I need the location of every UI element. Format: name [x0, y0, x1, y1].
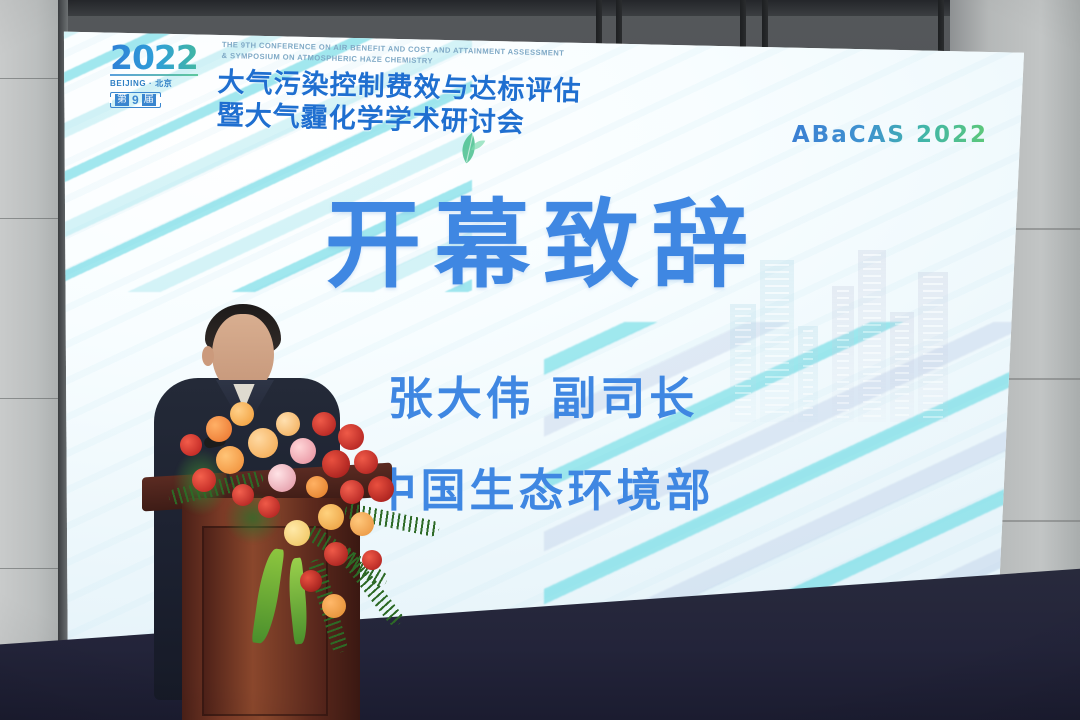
flower-lily — [248, 428, 278, 458]
wall-seam — [0, 568, 66, 569]
logo-divider — [110, 74, 198, 76]
wall-seam — [0, 78, 66, 79]
conference-logo: 2022 BEIJING · 北京 第 9 届 — [110, 42, 214, 108]
wall-seam — [0, 398, 66, 399]
flower-arrangement — [172, 372, 442, 672]
flower-peach — [230, 402, 254, 426]
flower-yellow — [284, 520, 310, 546]
conference-photo: 2022 BEIJING · 北京 第 9 届 THE 9TH CONFEREN… — [0, 0, 1080, 720]
flower-red — [258, 496, 280, 518]
flower-red — [340, 480, 364, 504]
slide-header: 2022 BEIJING · 北京 第 9 届 THE 9TH CONFEREN… — [110, 38, 1010, 158]
flower-yellow — [318, 504, 344, 530]
flower-orange — [350, 512, 374, 536]
flower-orange — [306, 476, 328, 498]
flower-red — [180, 434, 202, 456]
slide-title: 开幕致辞 — [62, 198, 1024, 294]
flower-red — [362, 550, 382, 570]
edition-badge: 第 9 届 — [110, 92, 161, 108]
logo-year: 2022 — [110, 42, 214, 73]
flower-orange — [206, 416, 232, 442]
flower-red — [338, 424, 364, 450]
flower-peach — [276, 412, 300, 436]
ceiling-band — [0, 0, 1080, 16]
flower-red — [324, 542, 348, 566]
edition-suffix: 届 — [142, 94, 156, 106]
flower-orange — [322, 594, 346, 618]
flower-red — [192, 468, 216, 492]
speaker-ear — [202, 346, 214, 366]
wall-panel-left — [0, 0, 66, 720]
flower-red — [300, 570, 322, 592]
edition-number: 9 — [132, 94, 139, 106]
flower-red — [232, 484, 254, 506]
flower-lily-pink — [268, 464, 296, 492]
flower-red — [312, 412, 336, 436]
logo-city: BEIJING · 北京 — [110, 78, 214, 89]
conference-chinese-title: 大气污染控制费效与达标评估 暨大气霾化学学术研讨会 — [216, 66, 582, 142]
flower-orange — [216, 446, 244, 474]
flower-red — [322, 450, 350, 478]
flower-red — [368, 476, 394, 502]
flower-lily-pink — [290, 438, 316, 464]
edition-prefix: 第 — [115, 94, 129, 106]
green-blade — [251, 547, 284, 645]
wall-seam — [0, 218, 66, 219]
abacas-brand-mark: ABaCAS 2022 — [792, 122, 988, 148]
flower-red — [354, 450, 378, 474]
